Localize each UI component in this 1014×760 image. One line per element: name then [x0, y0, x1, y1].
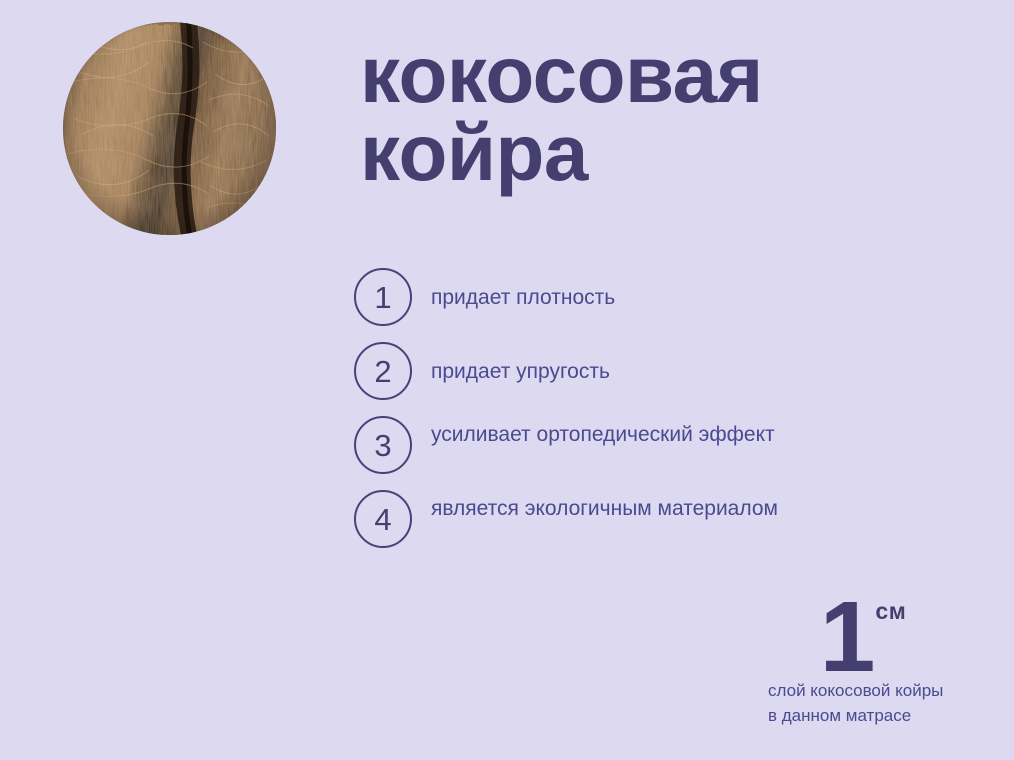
thickness-caption-line-2: в данном матрасе [768, 703, 962, 728]
feature-list: 1 придает плотность 2 придает упругость … [354, 268, 954, 564]
slide-root: кокосовая койра 1 придает плотность 2 пр… [0, 0, 1014, 760]
feature-label: придает плотность [431, 282, 615, 313]
thickness-number: 1 [820, 581, 874, 693]
feature-label: придает упругость [431, 356, 610, 387]
thickness-unit: см [875, 598, 906, 624]
list-item: 2 придает упругость [354, 342, 954, 416]
list-item: 3 усиливает ортопедический эффект [354, 416, 954, 490]
page-title-line-1: кокосовая [360, 36, 960, 114]
list-item: 1 придает плотность [354, 268, 954, 342]
page-title-line-2: койра [360, 114, 960, 192]
feature-number-badge: 4 [354, 490, 412, 548]
page-title: кокосовая койра [360, 36, 960, 193]
thickness-callout: 1см слой кокосовой койры в данном матрас… [762, 596, 962, 728]
feature-number-badge: 3 [354, 416, 412, 474]
coconut-coir-photo [63, 22, 276, 235]
feature-label: является экологичным материалом [431, 493, 778, 524]
feature-number-badge: 2 [354, 342, 412, 400]
feature-label: усиливает ортопедический эффект [431, 419, 775, 450]
feature-number-badge: 1 [354, 268, 412, 326]
list-item: 4 является экологичным материалом [354, 490, 954, 564]
thickness-value: 1см [762, 596, 962, 678]
